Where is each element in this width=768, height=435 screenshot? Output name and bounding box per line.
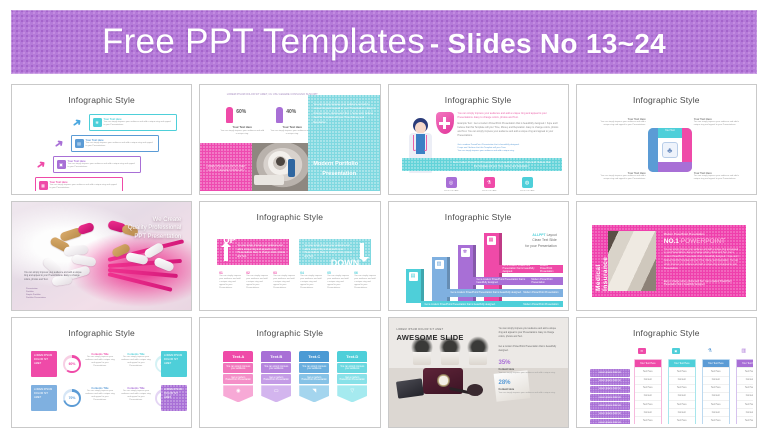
table-column-4: Your Text Here Text Here Content Text He… (736, 359, 753, 424)
banner-title-sub: - Slides No 13~24 (430, 28, 666, 59)
ribbon-seg: Get a modern PowerPoint Presentation (299, 374, 329, 384)
row-label: Lorem ipsum dolor sit (590, 378, 630, 385)
bullet-item: Portfolio Presentation (26, 297, 88, 300)
ribbon-seg: Get a modern PowerPoint Presentation (337, 374, 367, 384)
panel-2: LOREM IPSUM DOLOR SIT AMET (161, 351, 187, 377)
table-cell: Content (669, 376, 695, 384)
step-row-4: ✾ Your Text Here You can simply impress … (89, 114, 177, 131)
table-cell: Text Here (635, 367, 661, 375)
shield-icon (436, 112, 454, 134)
table-cell: Content (703, 392, 729, 400)
chart-icon: ▥ (435, 260, 444, 269)
column-2: 02 You can simply impress your audience … (246, 271, 268, 290)
corner-body: You can simply impress your audience and… (594, 121, 646, 127)
stat-label-1: Your Text Here (220, 125, 264, 129)
down-word: DOWN (331, 259, 360, 268)
column-5: 05 You can simply impress your audience … (327, 271, 349, 290)
band-left-text: Get a modern PowerPoint Presentation tha… (451, 291, 522, 294)
cover-caption: You can simply impress your audience and… (24, 272, 82, 283)
step-body: You can simply impress your audience and… (50, 184, 120, 190)
column-header: Your Text Here (737, 360, 753, 367)
row-label: Lorem ipsum dolor sit (590, 369, 630, 376)
slide-thumbnail-12[interactable]: Infographic Style Lorem ipsum dolor sit … (576, 317, 757, 428)
bullet-list: Get a modern PowerPoint Presentation tha… (458, 144, 560, 153)
mri-photo (252, 143, 308, 191)
column-6: 06 You can simply impress your audience … (354, 271, 376, 290)
band-4: Get a modern PowerPoint Presentation tha… (499, 265, 563, 273)
ribbon-head: Text.C (299, 351, 329, 362)
stat-value-1: 60% (236, 109, 246, 115)
corner-text-2: Your Text Here You can simply impress yo… (694, 118, 746, 127)
slide-heading: LOREM IPSUM DOLOR SIT AMET, CU USU LEGER… (224, 93, 320, 97)
technician-figure (288, 159, 295, 177)
bar-2: ▥ (432, 257, 447, 303)
lead-text: You can simply impress your audience and… (458, 112, 560, 120)
table-cell: Content (703, 376, 729, 384)
slide-thumbnail-5[interactable]: We Create Quality Professional PPT Prese… (11, 201, 192, 312)
contents-title-2: Contents Title (470, 190, 510, 191)
ribbon-head: Text.B (261, 351, 291, 362)
table-cell: Text Here (703, 384, 729, 392)
row-label: Lorem ipsum dolor sit (590, 386, 630, 393)
donut-value: 70% (65, 392, 79, 406)
trophy-icon: ▽ (337, 385, 367, 402)
panel-title-1: Modern Portfolio (313, 161, 376, 167)
heading: NO.1 POWERPOINT (664, 238, 742, 245)
band-right-text: Modern PowerPoint Presentation (523, 291, 558, 294)
slide-thumbnail-1[interactable]: Infographic Style ✾ Your Text Here You c… (11, 84, 192, 195)
item-body: You can simply impress your audience and… (85, 356, 115, 368)
slide-thumbnail-9[interactable]: Infographic Style LOREM IPSUM DOLOR SIT … (11, 317, 192, 428)
row-label: Lorem ipsum dolor sit (590, 419, 630, 424)
pink-block-text: LOREM IPSUM DOLOR SIT AMET, CU USU LEGER… (206, 165, 246, 174)
row-label: Lorem ipsum dolor sit (590, 411, 630, 418)
arrow-icon-3: ➜ (53, 137, 67, 151)
corner-text-4: Your Text Here You can simply impress yo… (694, 172, 746, 181)
corner-body: You can simply impress your audience and… (694, 121, 746, 127)
band-right-text: Modern PowerPoint Presentation (531, 278, 558, 284)
panel-title-2: Presentation (322, 171, 379, 177)
slide-title: Infographic Style (203, 212, 376, 222)
table-cell: Text Here (669, 367, 695, 375)
band-3: Get a modern PowerPoint Presentation tha… (473, 277, 563, 285)
ribbon-column-2: Text.B You can simply impress your audie… (261, 351, 291, 402)
monitor-icon: ▣ (672, 348, 680, 354)
contents-title-3: Contents Title (508, 190, 548, 191)
step-body: You can simply impress your audience and… (104, 121, 174, 127)
stat-value-2: 28% (499, 380, 511, 386)
arrow-icon-4: ➜ (71, 116, 85, 130)
table-cell: Text Here (635, 416, 661, 424)
ribbon-head: Text.D (337, 351, 367, 362)
teal-band: Get a modern PowerPoint Presentation tha… (402, 158, 562, 171)
cycle-arrow-left (648, 128, 658, 172)
chart-icon: ▤ (75, 139, 84, 148)
table-cell: Text Here (635, 384, 661, 392)
corner-body: You can simply impress your audience and… (694, 175, 746, 181)
insurance-panel: Medical Insurance Modern PowerPoint Pres… (592, 225, 746, 297)
ribbon-seg: You can simply impress your audience (223, 363, 253, 373)
megaphone-icon: ◥ (299, 385, 329, 402)
row-label: Lorem ipsum dolor sit (590, 402, 630, 409)
slide-title: Infographic Style (392, 212, 565, 222)
gear-icon: ✾ (93, 118, 102, 127)
flask-icon: ⚗ (706, 348, 714, 354)
panel-3: LOREM IPSUM DOLOR SIT AMET (31, 385, 57, 411)
table-cell: Text Here (635, 400, 661, 408)
slide-title: Infographic Style (580, 328, 753, 338)
body-text-2: Get a modern PowerPoint Presentation tha… (499, 346, 561, 353)
column-3: 03 You can simply impress your audience … (273, 271, 295, 290)
female-icon (226, 107, 233, 123)
table-column-1: Your Text Here Text Here Content Text He… (634, 359, 662, 424)
table-cell: Content (703, 408, 729, 416)
item-body: You can simply impress your audience and… (121, 356, 151, 368)
slide-title: Infographic Style (580, 95, 753, 105)
mri-bed (254, 175, 284, 185)
eyebrow-text: LOREM IPSUM DOLOR SIT AMET (397, 328, 444, 331)
band-text: Get a modern PowerPoint Presentation tha… (452, 161, 552, 169)
table-cell: Content (737, 408, 753, 416)
table-cell: Content (737, 376, 753, 384)
documents-photo (608, 231, 656, 291)
cycle-center-label: Your Text (656, 129, 684, 132)
table-cell: Content (737, 392, 753, 400)
monitor-icon: ▣ (57, 160, 66, 169)
table-cell: Text Here (737, 367, 753, 375)
table-cell: Text Here (737, 400, 753, 408)
row-label: Lorem ipsum dolor sit (590, 394, 630, 401)
eyebrow-text: Modern PowerPoint Presentation (664, 233, 738, 236)
page-banner: Free PPT Templates - Slides No 13~24 (11, 10, 757, 74)
stat-body-2: You can simply impress your audience and… (499, 392, 561, 395)
camera-icon: ◉ (223, 385, 253, 402)
column-body: You can simply impress your audience and… (354, 275, 376, 290)
bar-1: ▤ (406, 269, 421, 303)
cyan-panel: You can simply impress your audience and… (308, 95, 379, 191)
table-column-3: Your Text Here Text Here Content Text He… (702, 359, 730, 424)
step-body: You can simply impress your audience and… (68, 163, 138, 169)
stat-body-1: You can simply impress your audience and… (499, 372, 561, 375)
body-text: Example Text : Get a modern PowerPoint P… (458, 122, 560, 137)
band-right-text: Modern PowerPoint Presentation (540, 264, 559, 273)
column-body: You can simply impress your audience and… (246, 275, 268, 290)
slide-title: AWESOME SLIDE (397, 333, 464, 342)
column-body: You can simply impress your audience and… (219, 275, 241, 290)
band-left-text: Get a modern PowerPoint Presentation tha… (503, 264, 541, 273)
heading-light: POWERPOINT (681, 238, 725, 245)
column-body: You can simply impress your audience and… (300, 275, 322, 290)
slide-title: Infographic Style (203, 328, 376, 338)
step-body: You can simply impress your audience and… (86, 142, 156, 148)
panel-body: You can simply impress your audience and… (313, 103, 376, 125)
slide-title: Infographic Style (15, 95, 188, 105)
table-column-2: Your Text Here Text Here Content Text He… (668, 359, 696, 424)
target-icon[interactable]: ◎ (446, 177, 457, 188)
ribbon-column-4: Text.D You can simply impress your audie… (337, 351, 367, 402)
ribbon-seg: You can simply impress your audience (299, 363, 329, 373)
panel-4: LOREM IPSUM DOLOR SIT AMET (161, 385, 187, 411)
table-cell: Text Here (669, 416, 695, 424)
step-row-3: ▤ Your Text Here You can simply impress … (71, 135, 159, 152)
ribbon-seg: Get a modern PowerPoint Presentation (261, 374, 291, 384)
slide-thumbnail-3[interactable]: Infographic Style You can simply impress… (388, 84, 569, 195)
stat-body-1: You can simply impress your audience and… (220, 130, 264, 136)
cover-title-line-2: Quality Professional (128, 224, 181, 233)
gear-icon: ✾ (461, 248, 470, 257)
tag-line-1: Layout (547, 233, 557, 237)
corner-body: You can simply impress your audience and… (594, 175, 646, 181)
ribbon-seg: Get a modern PowerPoint Presentation (223, 374, 253, 384)
band-1: Get a modern PowerPoint Presentation tha… (421, 301, 563, 308)
stat-value-1: 35% (499, 360, 511, 366)
table-cell: Content (669, 408, 695, 416)
stat-label-1: Content Here (499, 368, 515, 371)
contents-title-1: Contents Title (432, 190, 472, 191)
donut-text-4: Contents Title You can simply impress yo… (121, 387, 151, 402)
heading-strong: NO.1 (664, 238, 679, 245)
tree-icon: ♣ (662, 142, 678, 158)
corner-text-1: Your Text Here You can simply impress yo… (594, 118, 646, 127)
column-header: Your Text Here (703, 360, 729, 367)
table-cell: Text Here (669, 384, 695, 392)
up-body: You can simply impress your audience and… (237, 244, 285, 259)
globe-icon[interactable]: ◍ (522, 177, 533, 188)
slide-thumbnail-6[interactable]: Infographic Style UP You can simply impr… (199, 201, 380, 312)
donut-value: 60% (65, 358, 79, 372)
band-2: Get a modern PowerPoint Presentation tha… (447, 289, 563, 297)
book-icon: ▦ (487, 236, 496, 245)
brand-label: ALLPPT (532, 233, 545, 237)
cover-bullets: Presentation Portfolio Simple Portfolio … (26, 288, 88, 300)
table-cell: Text Here (703, 400, 729, 408)
cover-title-line-3: PPT Presentation (128, 233, 181, 242)
male-icon (276, 107, 283, 123)
flask-icon[interactable]: ⚗ (484, 177, 495, 188)
ribbon-seg: You can simply impress your audience (261, 363, 291, 373)
pink-block: LOREM IPSUM DOLOR SIT AMET, CU USU LEGER… (200, 143, 252, 191)
slide-thumbnail-2[interactable]: LOREM IPSUM DOLOR SIT AMET, CU USU LEGER… (199, 84, 380, 195)
mail-icon: ✉ (638, 348, 646, 354)
ribbon-head: Text.A (223, 351, 253, 362)
donut-text-1: Contents Title You can simply impress yo… (85, 353, 115, 368)
table-cell: Text Here (703, 367, 729, 375)
column-body: You can simply impress your audience and… (327, 275, 349, 290)
bullet-item: You can simply impress your audience and… (458, 150, 560, 153)
template-gallery-page: Free PPT Templates - Slides No 13~24 Inf… (0, 0, 768, 435)
body-text-1: You can simply impress your audience and… (499, 328, 561, 339)
step-row-2: ▣ Your Text Here You can simply impress … (53, 156, 141, 173)
column-header: Your Text Here (635, 360, 661, 367)
band-right-text: Modern PowerPoint Presentation (523, 303, 558, 306)
donut-1: 60% (63, 355, 81, 373)
column-4: 04 You can simply impress your audience … (300, 271, 322, 290)
down-body: You can simply impress your audience and… (304, 244, 352, 259)
down-block: DOWN You can simply impress your audienc… (299, 239, 371, 265)
slide-thumbnail-grid: Infographic Style ✾ Your Text Here You c… (11, 84, 757, 428)
ribbon-column-1: Text.A You can simply impress your audie… (223, 351, 253, 402)
band-left-text: Get a modern PowerPoint Presentation tha… (477, 278, 532, 284)
donut-text-2: Contents Title You can simply impress yo… (121, 353, 151, 368)
arrow-icon-2: ➜ (35, 158, 49, 172)
bank-icon: ▥ (740, 348, 748, 354)
up-arrow-icon (224, 245, 228, 261)
column-1: 01 You can simply impress your audience … (219, 271, 241, 290)
banner-title: Free PPT Templates - Slides No 13~24 (102, 22, 666, 62)
table-cell: Text Here (737, 416, 753, 424)
table-cell: Content (669, 392, 695, 400)
footer-text: Easy to change colors, photos and Text. … (664, 281, 740, 288)
cover-title: We Create Quality Professional PPT Prese… (128, 216, 181, 242)
ribbon-column-3: Text.C You can simply impress your audie… (299, 351, 329, 402)
slide-thumbnail-11[interactable]: LOREM IPSUM DOLOR SIT AMET AWESOME SLIDE… (388, 317, 569, 428)
calendar-icon: ▦ (39, 181, 48, 190)
chat-icon: ▭ (261, 385, 291, 402)
ribbon-seg: You can simply impress your audience (337, 363, 367, 373)
donut-text-3: Contents Title You can simply impress yo… (85, 387, 115, 402)
cover-title-line-1: We Create (128, 216, 181, 225)
stat-value-2: 40% (286, 109, 296, 115)
item-body: You can simply impress your audience and… (121, 390, 151, 402)
up-block: UP You can simply impress your audience … (217, 239, 289, 265)
slide-thumbnail-7[interactable]: Infographic Style ALLPPT Layout Clean Te… (388, 201, 569, 312)
band-left-text: Get a modern PowerPoint Presentation tha… (425, 303, 496, 306)
stat-label-2: Content Here (499, 388, 515, 391)
table-cell: Content (635, 408, 661, 416)
slide-thumbnail-8[interactable]: Medical Insurance Modern PowerPoint Pres… (576, 201, 757, 312)
panel-1: LOREM IPSUM DOLOR SIT AMET (31, 351, 57, 377)
item-body: You can simply impress your audience and… (85, 390, 115, 402)
step-row-1: ▦ Your Text Here You can simply impress … (35, 177, 123, 191)
column-body: You can simply impress your audience and… (273, 275, 295, 290)
vertical-title: Medical Insurance (595, 233, 609, 291)
table-cell: Text Here (737, 384, 753, 392)
table-cell: Text Here (669, 400, 695, 408)
table-cell: Content (635, 392, 661, 400)
donut-3: 70% (63, 389, 81, 407)
banner-title-main: Free PPT Templates (102, 22, 425, 61)
corner-text-3: Your Text Here You can simply impress yo… (594, 172, 646, 181)
column-header: Your Text Here (669, 360, 695, 367)
clipboard-icon: ▤ (409, 272, 418, 281)
slide-thumbnail-4[interactable]: Infographic Style ♣ Your Text Your Text … (576, 84, 757, 195)
row-label-list: Lorem ipsum dolor sit Lorem ipsum dolor … (590, 369, 630, 424)
table-cell: Text Here (703, 416, 729, 424)
table-cell: Content (635, 376, 661, 384)
body-text: You can simply impress your audience and… (664, 249, 740, 272)
slide-title: Infographic Style (392, 95, 565, 105)
slide-thumbnail-10[interactable]: Infographic Style Text.A You can simply … (199, 317, 380, 428)
slide-title: Infographic Style (15, 328, 188, 338)
